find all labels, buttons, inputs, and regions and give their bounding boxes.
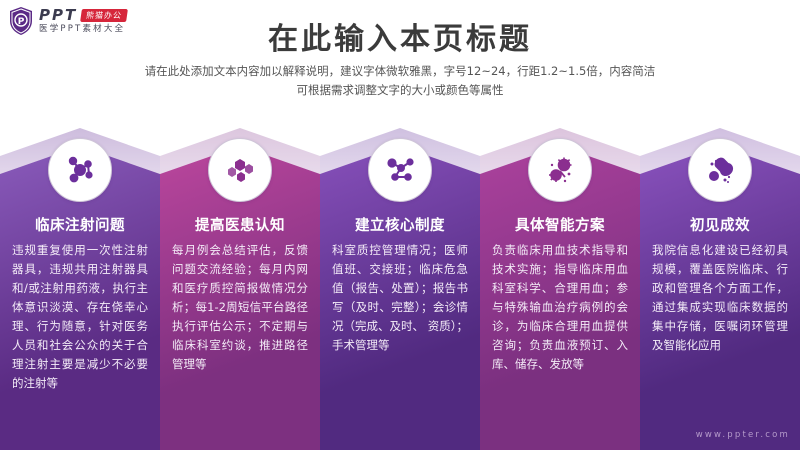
site-watermark: www.ppter.com <box>696 430 790 440</box>
column-5-heading: 初见成效 <box>640 214 800 235</box>
column-2-text: 每月例会总结评估，反馈问题交流经验；每月内网和医疗质控简报做情况分析；每1-2周… <box>172 241 308 374</box>
column-3-heading: 建立核心制度 <box>320 214 480 235</box>
subtitle-line-2: 可根据需求调整文字的大小或颜色等属性 <box>0 81 800 100</box>
column-4-heading: 具体智能方案 <box>480 214 640 235</box>
hexagon-cluster-icon <box>208 138 272 202</box>
capsule-pill-icon <box>688 138 752 202</box>
column-2-heading: 提高医患认知 <box>160 214 320 235</box>
virus-cell-icon <box>528 138 592 202</box>
column-3[interactable]: 建立核心制度 科室质控管理情况；医师值班、交接班；临床危急值（报告、处置）；报告… <box>320 128 480 450</box>
slide-canvas: P PPT 熊猫办公 医学PPT素材大全 在此输入本页标题 请在此处添加文本内容… <box>0 0 800 450</box>
page-subtitle: 请在此处添加文本内容加以解释说明，建议字体微软雅黑，字号12~24，行距1.2~… <box>0 62 800 100</box>
column-5-text: 我院信息化建设已经初具规模，覆盖医院临床、行政和管理各个方面工作，通过集成实现临… <box>652 241 788 355</box>
column-3-text: 科室质控管理情况；医师值班、交接班；临床危急值（报告、处置）；报告书写（及时、完… <box>332 241 468 355</box>
molecule-icon <box>48 138 112 202</box>
column-1[interactable]: 临床注射问题 违规重复使用一次性注射器具，违规共用注射器具和/或注射用药液，执行… <box>0 128 160 450</box>
column-4[interactable]: 具体智能方案 负责临床用血技术指导和技术实施；指导临床用血科室科学、合理用血；参… <box>480 128 640 450</box>
column-2[interactable]: 提高医患认知 每月例会总结评估，反馈问题交流经验；每月内网和医疗质控简报做情况分… <box>160 128 320 450</box>
subtitle-line-1: 请在此处添加文本内容加以解释说明，建议字体微软雅黑，字号12~24，行距1.2~… <box>0 62 800 81</box>
chevron-columns: 临床注射问题 违规重复使用一次性注射器具，违规共用注射器具和/或注射用药液，执行… <box>0 128 800 450</box>
column-1-heading: 临床注射问题 <box>0 214 160 235</box>
column-4-text: 负责临床用血技术指导和技术实施；指导临床用血科室科学、合理用血；参与特殊输血治疗… <box>492 241 628 374</box>
page-title: 在此输入本页标题 <box>0 14 800 58</box>
share-network-icon <box>368 138 432 202</box>
column-5[interactable]: 初见成效 我院信息化建设已经初具规模，覆盖医院临床、行政和管理各个方面工作，通过… <box>640 128 800 450</box>
column-1-text: 违规重复使用一次性注射器具，违规共用注射器具和/或注射用药液，执行主体意识淡漠、… <box>12 241 148 393</box>
